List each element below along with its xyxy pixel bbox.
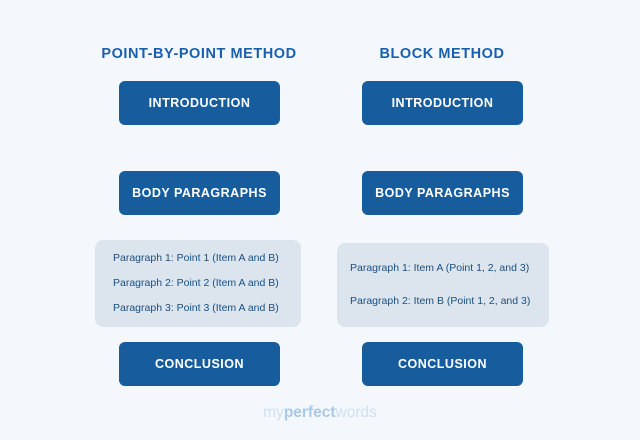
essay-structure-infographic: POINT-BY-POINT METHOD INTRODUCTION BODY …: [0, 0, 640, 440]
stage-box-introduction-left: INTRODUCTION: [119, 81, 280, 125]
stage-label-introduction-right: INTRODUCTION: [392, 96, 494, 110]
stage-label-body-paragraphs-left: BODY PARAGRAPHS: [132, 186, 267, 200]
stage-box-conclusion-right: CONCLUSION: [362, 342, 523, 386]
stage-box-introduction-right: INTRODUCTION: [362, 81, 523, 125]
detail-panel-point-by-point: Paragraph 1: Point 1 (Item A and B) Para…: [95, 240, 301, 327]
detail-line: Paragraph 2: Item B (Point 1, 2, and 3): [350, 295, 549, 308]
detail-line: Paragraph 3: Point 3 (Item A and B): [113, 302, 301, 315]
brand-logo-part-perfect: perfect: [284, 404, 336, 421]
detail-panel-block-method: Paragraph 1: Item A (Point 1, 2, and 3) …: [337, 243, 549, 327]
column-heading-block-method: BLOCK METHOD: [292, 46, 592, 62]
brand-logo: myperfectwords: [0, 403, 640, 423]
stage-label-body-paragraphs-right: BODY PARAGRAPHS: [375, 186, 510, 200]
stage-label-conclusion-right: CONCLUSION: [398, 357, 487, 371]
stage-box-body-paragraphs-right: BODY PARAGRAPHS: [362, 171, 523, 215]
brand-logo-part-my: my: [263, 404, 284, 421]
detail-line: Paragraph 2: Point 2 (Item A and B): [113, 277, 301, 290]
brand-logo-part-words: words: [336, 404, 377, 421]
stage-box-body-paragraphs-left: BODY PARAGRAPHS: [119, 171, 280, 215]
stage-box-conclusion-left: CONCLUSION: [119, 342, 280, 386]
detail-line: Paragraph 1: Point 1 (Item A and B): [113, 252, 301, 265]
detail-line: Paragraph 1: Item A (Point 1, 2, and 3): [350, 262, 549, 275]
column-block-method: BLOCK METHOD INTRODUCTION BODY PARAGRAPH…: [292, 0, 592, 440]
stage-label-introduction-left: INTRODUCTION: [149, 96, 251, 110]
stage-label-conclusion-left: CONCLUSION: [155, 357, 244, 371]
